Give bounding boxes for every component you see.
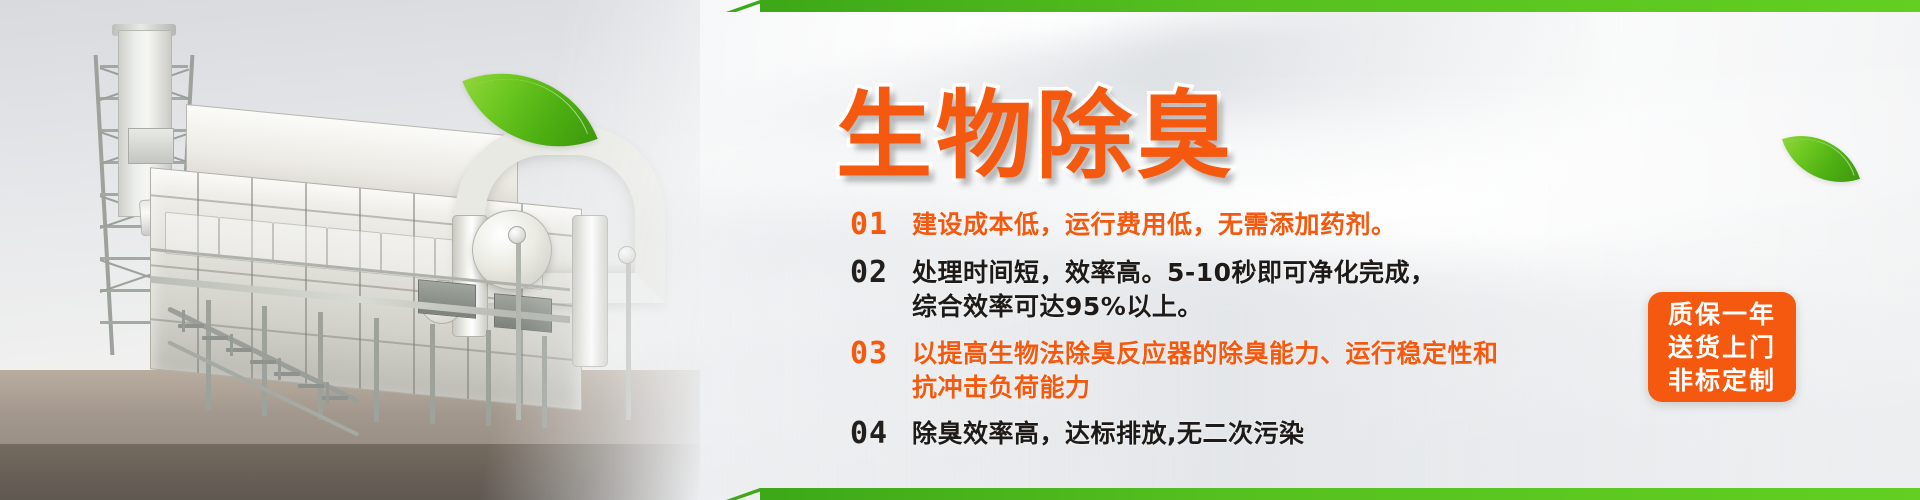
feature-list: 01 建设成本低，运行费用低，无需添加药剂。 02 处理时间短，效率高。5-10… — [850, 208, 1610, 460]
feature-number: 02 — [850, 256, 912, 290]
promo-banner: 生物除臭 01 建设成本低，运行费用低，无需添加药剂。 02 处理时间短，效率高… — [0, 0, 1920, 500]
badge-line-delivery: 送货上门 — [1668, 331, 1776, 364]
feature-text: 建设成本低，运行费用低，无需添加药剂。 — [912, 208, 1397, 242]
list-item: 04 除臭效率高，达标排放,无二次污染 — [850, 417, 1610, 451]
feature-text: 除臭效率高，达标排放,无二次污染 — [912, 417, 1305, 451]
badge-line-warranty: 质保一年 — [1668, 298, 1776, 331]
list-item: 03 以提高生物法除臭反应器的除臭能力、运行稳定性和 抗冲击负荷能力 — [850, 337, 1610, 405]
feature-number: 01 — [850, 208, 912, 242]
page-title: 生物除臭 — [836, 58, 1236, 197]
guarantee-badge: 质保一年 送货上门 非标定制 — [1648, 292, 1796, 402]
list-item: 01 建设成本低，运行费用低，无需添加药剂。 — [850, 208, 1610, 242]
feature-number: 03 — [850, 337, 912, 371]
feature-number: 04 — [850, 417, 912, 451]
badge-line-custom: 非标定制 — [1668, 364, 1776, 397]
feature-text: 以提高生物法除臭反应器的除臭能力、运行稳定性和 抗冲击负荷能力 — [912, 337, 1499, 405]
feature-text: 处理时间短，效率高。5-10秒即可净化完成， 综合效率可达95%以上。 — [912, 256, 1436, 324]
list-item: 02 处理时间短，效率高。5-10秒即可净化完成， 综合效率可达95%以上。 — [850, 256, 1610, 324]
banner-content: 生物除臭 01 建设成本低，运行费用低，无需添加药剂。 02 处理时间短，效率高… — [0, 0, 1920, 500]
